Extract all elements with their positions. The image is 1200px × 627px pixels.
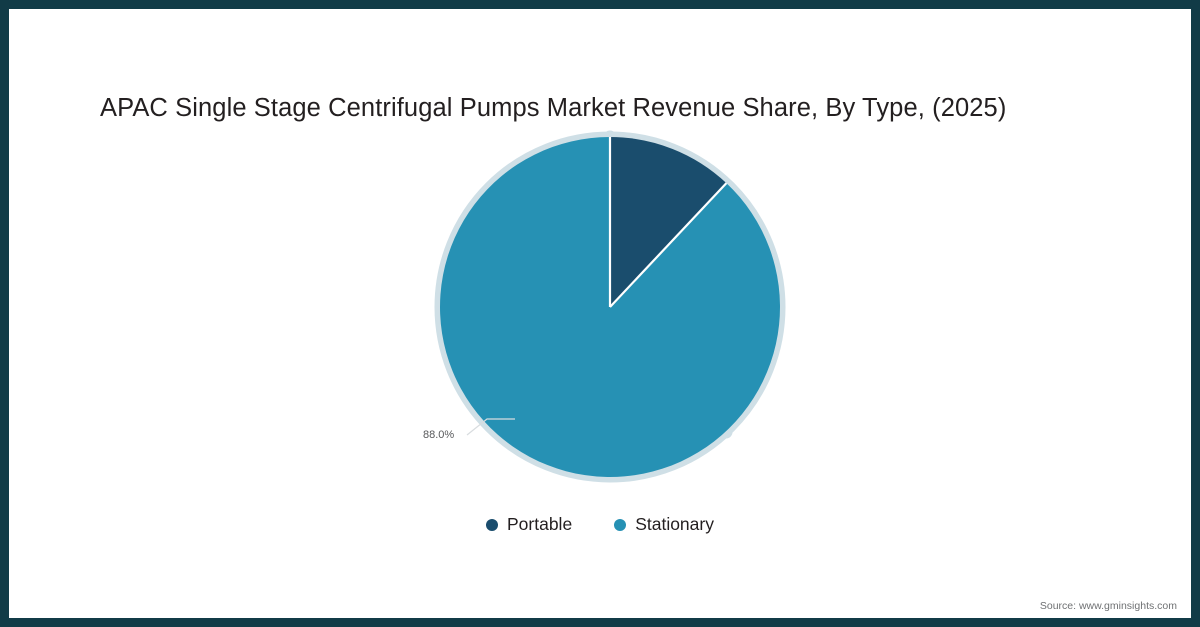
legend-item-portable[interactable]: Portable — [486, 514, 572, 535]
legend-label-portable: Portable — [507, 514, 572, 535]
legend-item-stationary[interactable]: Stationary — [614, 514, 714, 535]
pie-chart-area — [419, 127, 809, 497]
legend-marker-stationary-icon — [614, 519, 626, 531]
pie-data-label-stationary: 88.0% — [423, 429, 454, 441]
chart-figure-frame: APAC Single Stage Centrifugal Pumps Mark… — [0, 0, 1200, 627]
source-attribution: Source: www.gminsights.com — [1040, 600, 1177, 612]
legend-label-stationary: Stationary — [635, 514, 714, 535]
pie-chart-svg — [419, 127, 809, 497]
chart-canvas: APAC Single Stage Centrifugal Pumps Mark… — [9, 9, 1191, 618]
legend-marker-portable-icon — [486, 519, 498, 531]
page-title: APAC Single Stage Centrifugal Pumps Mark… — [100, 94, 1006, 123]
chart-legend: Portable Stationary — [9, 514, 1191, 535]
